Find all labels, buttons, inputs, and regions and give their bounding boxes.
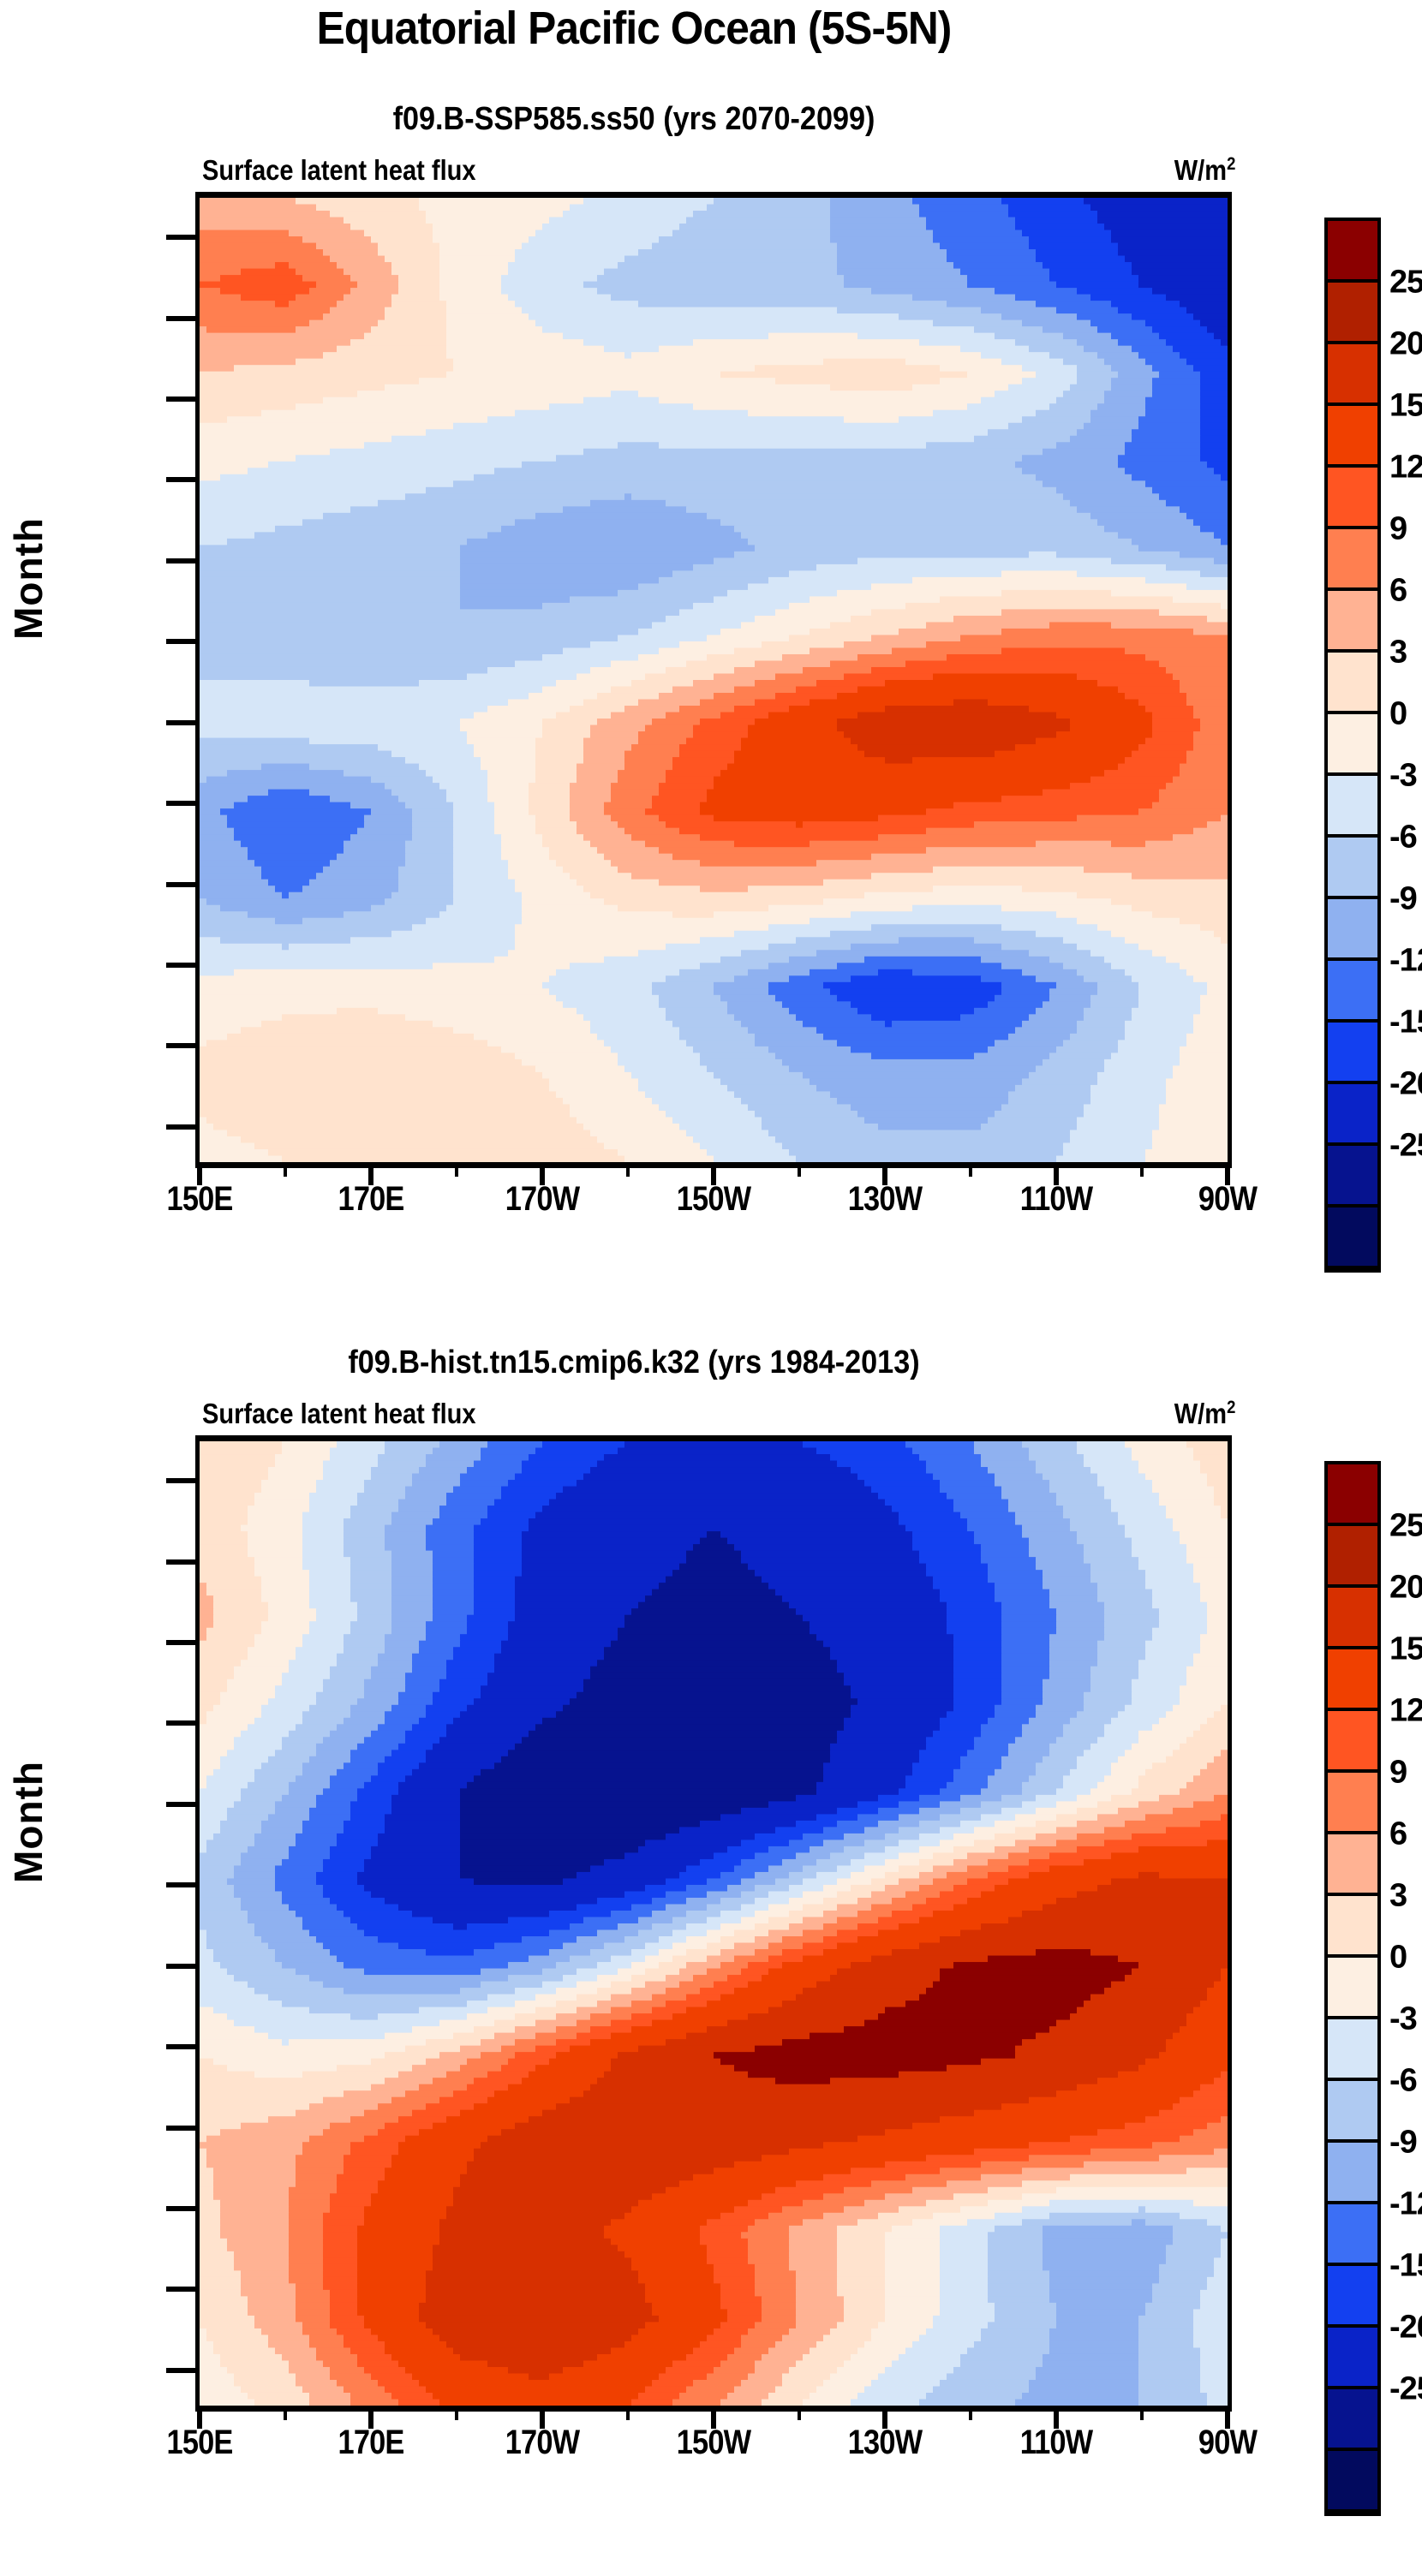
x-tick-mark	[1225, 2408, 1230, 2429]
colorbar-swatch	[1328, 1649, 1377, 1711]
colorbar-swatch	[1328, 1526, 1377, 1588]
y-tick-mark	[166, 2206, 195, 2211]
colorbar: 252015129630-3-6-9-12-15-20-25	[1324, 1461, 1381, 2516]
y-axis-label: Month	[5, 1761, 51, 1883]
colorbar-tick-label: 9	[1389, 1755, 1407, 1792]
y-tick-mark	[166, 963, 195, 968]
units-label: W/m2	[1174, 1398, 1235, 1430]
y-tick-mark	[166, 2368, 195, 2373]
x-tick-mark	[882, 1165, 887, 1185]
colorbar-swatch	[1328, 1773, 1377, 1834]
colorbar-swatch	[1328, 1084, 1377, 1146]
colorbar-tick-label: 12	[1389, 1693, 1422, 1730]
contour-plot	[195, 1435, 1232, 2412]
colorbar-swatch	[1328, 1207, 1377, 1269]
x-tick-label: 170W	[469, 2424, 616, 2462]
y-tick-mark	[166, 477, 195, 482]
colorbar-tick-label: 3	[1389, 635, 1407, 671]
colorbar-swatch	[1328, 591, 1377, 653]
x-tick-label: 110W	[983, 1180, 1130, 1219]
x-tick-label: 150E	[126, 2424, 273, 2462]
colorbar-swatch	[1328, 283, 1377, 344]
colorbar-swatch	[1328, 1958, 1377, 2019]
x-tick-mark	[368, 1165, 373, 1185]
x-tick-minor	[284, 1165, 287, 1177]
colorbar-tick-label: 25	[1389, 265, 1422, 301]
colorbar-tick-label: 20	[1389, 326, 1422, 363]
colorbar-tick-label: 12	[1389, 450, 1422, 486]
colorbar-tick-label: 6	[1389, 573, 1407, 610]
x-tick-mark	[368, 2408, 373, 2429]
colorbar-tick-label: 15	[1389, 388, 1422, 425]
colorbar-tick-label: 6	[1389, 1816, 1407, 1853]
x-tick-minor	[1140, 1165, 1144, 1177]
colorbar-tick-label: -12	[1389, 943, 1422, 980]
colorbar-tick-label: -25	[1389, 1128, 1422, 1165]
colorbar-tick-label: 25	[1389, 1508, 1422, 1545]
x-tick-minor	[626, 2408, 630, 2420]
plot-header: Surface latent heat flux W/m2	[195, 1398, 1232, 1432]
colorbar-swatch	[1328, 2328, 1377, 2389]
y-tick-mark	[166, 316, 195, 321]
colorbar-swatch	[1328, 406, 1377, 468]
colorbar-swatch	[1328, 838, 1377, 899]
x-tick-label: 130W	[811, 1180, 959, 1219]
x-tick-label: 150W	[640, 2424, 787, 2462]
colorbar-swatch	[1328, 2081, 1377, 2143]
colorbar-swatch	[1328, 1023, 1377, 1084]
x-tick-label: 90W	[1154, 1180, 1301, 1219]
x-tick-mark	[197, 2408, 202, 2429]
figure-root: Equatorial Pacific Ocean (5S-5N) f09.B-S…	[0, 0, 1422, 2576]
colorbar-tick-label: 9	[1389, 511, 1407, 548]
y-tick-mark	[166, 1043, 195, 1048]
colorbar-swatch	[1328, 899, 1377, 961]
x-tick-minor	[798, 2408, 801, 2420]
x-tick-mark	[1054, 1165, 1059, 1185]
x-tick-label: 110W	[983, 2424, 1130, 2462]
colorbar-tick-label: -9	[1389, 2125, 1417, 2162]
y-tick-mark	[166, 1640, 195, 1645]
x-tick-mark	[711, 2408, 716, 2429]
colorbar-tick-label: 3	[1389, 1878, 1407, 1915]
variable-label: Surface latent heat flux	[202, 154, 476, 187]
x-tick-mark	[540, 1165, 545, 1185]
colorbar-tick-label: 15	[1389, 1631, 1422, 1668]
colorbar-swatch	[1328, 1834, 1377, 1896]
colorbar-swatch	[1328, 2143, 1377, 2204]
colorbar-swatch	[1328, 2266, 1377, 2328]
x-tick-label: 150E	[126, 1180, 273, 1219]
y-tick-mark	[166, 2044, 195, 2049]
colorbar-swatch	[1328, 1588, 1377, 1649]
y-tick-mark	[166, 2126, 195, 2131]
colorbar-swatch	[1328, 1711, 1377, 1773]
colorbar-tick-label: -12	[1389, 2186, 1422, 2223]
x-tick-mark	[540, 2408, 545, 2429]
x-tick-minor	[798, 1165, 801, 1177]
colorbar-tick-label: -15	[1389, 2248, 1422, 2285]
colorbar-tick-label: -20	[1389, 1066, 1422, 1103]
colorbar-swatch	[1328, 776, 1377, 838]
x-tick-mark	[711, 1165, 716, 1185]
y-tick-mark	[166, 558, 195, 563]
panel-title: f09.B-hist.tn15.cmip6.k32 (yrs 1984-2013…	[63, 1345, 1204, 1381]
colorbar-tick-label: -25	[1389, 2371, 1422, 2408]
y-axis-label: Month	[5, 517, 51, 640]
colorbar-tick-label: -20	[1389, 2310, 1422, 2346]
y-tick-mark	[166, 1478, 195, 1483]
y-tick-mark	[166, 720, 195, 725]
colorbar-swatch	[1328, 2019, 1377, 2081]
colorbar-swatch	[1328, 653, 1377, 714]
colorbar-tick-label: 0	[1389, 1940, 1407, 1977]
x-tick-label: 90W	[1154, 2424, 1301, 2462]
colorbar-swatch	[1328, 714, 1377, 776]
colorbar-swatch	[1328, 221, 1377, 283]
panel-title: f09.B-SSP585.ss50 (yrs 2070-2099)	[63, 101, 1204, 138]
main-title: Equatorial Pacific Ocean (5S-5N)	[51, 2, 1217, 55]
colorbar-tick-label: -6	[1389, 820, 1417, 856]
x-tick-mark	[1054, 2408, 1059, 2429]
y-tick-mark	[166, 801, 195, 806]
x-tick-label: 170E	[297, 2424, 445, 2462]
units-label: W/m2	[1174, 154, 1235, 187]
colorbar-swatch	[1328, 2204, 1377, 2266]
x-tick-minor	[284, 2408, 287, 2420]
colorbar-tick-label: -3	[1389, 2001, 1417, 2038]
y-tick-mark	[166, 882, 195, 887]
colorbar-swatch	[1328, 2451, 1377, 2513]
y-tick-mark	[166, 1559, 195, 1565]
y-tick-mark	[166, 397, 195, 402]
colorbar-swatch	[1328, 344, 1377, 406]
y-tick-mark	[166, 1964, 195, 1969]
colorbar-tick-label: -9	[1389, 881, 1417, 918]
colorbar-swatch	[1328, 468, 1377, 529]
x-tick-label: 150W	[640, 1180, 787, 1219]
x-tick-minor	[455, 1165, 458, 1177]
x-tick-mark	[1225, 1165, 1230, 1185]
x-tick-minor	[455, 2408, 458, 2420]
colorbar-tick-label: -15	[1389, 1005, 1422, 1041]
colorbar-swatch	[1328, 1464, 1377, 1526]
y-tick-mark	[166, 2287, 195, 2292]
colorbar-swatch	[1328, 529, 1377, 591]
y-tick-mark	[166, 1802, 195, 1807]
plot-header: Surface latent heat flux W/m2	[195, 154, 1232, 188]
colorbar-swatch	[1328, 961, 1377, 1023]
y-tick-mark	[166, 1124, 195, 1130]
x-tick-label: 130W	[811, 2424, 959, 2462]
colorbar-tick-label: 0	[1389, 696, 1407, 733]
y-tick-mark	[166, 235, 195, 240]
x-tick-minor	[969, 2408, 972, 2420]
x-tick-minor	[1140, 2408, 1144, 2420]
x-tick-label: 170W	[469, 1180, 616, 1219]
x-tick-mark	[197, 1165, 202, 1185]
y-tick-mark	[166, 1882, 195, 1887]
colorbar-swatch	[1328, 1146, 1377, 1207]
variable-label: Surface latent heat flux	[202, 1398, 476, 1430]
contour-plot	[195, 192, 1232, 1168]
y-tick-mark	[166, 639, 195, 644]
colorbar: 252015129630-3-6-9-12-15-20-25	[1324, 218, 1381, 1273]
y-tick-mark	[166, 1720, 195, 1726]
colorbar-tick-label: -3	[1389, 758, 1417, 795]
colorbar-swatch	[1328, 1896, 1377, 1958]
colorbar-swatch	[1328, 2389, 1377, 2451]
x-tick-mark	[882, 2408, 887, 2429]
colorbar-tick-label: 20	[1389, 1570, 1422, 1607]
colorbar-tick-label: -6	[1389, 2063, 1417, 2100]
x-tick-minor	[969, 1165, 972, 1177]
x-tick-minor	[626, 1165, 630, 1177]
x-tick-label: 170E	[297, 1180, 445, 1219]
